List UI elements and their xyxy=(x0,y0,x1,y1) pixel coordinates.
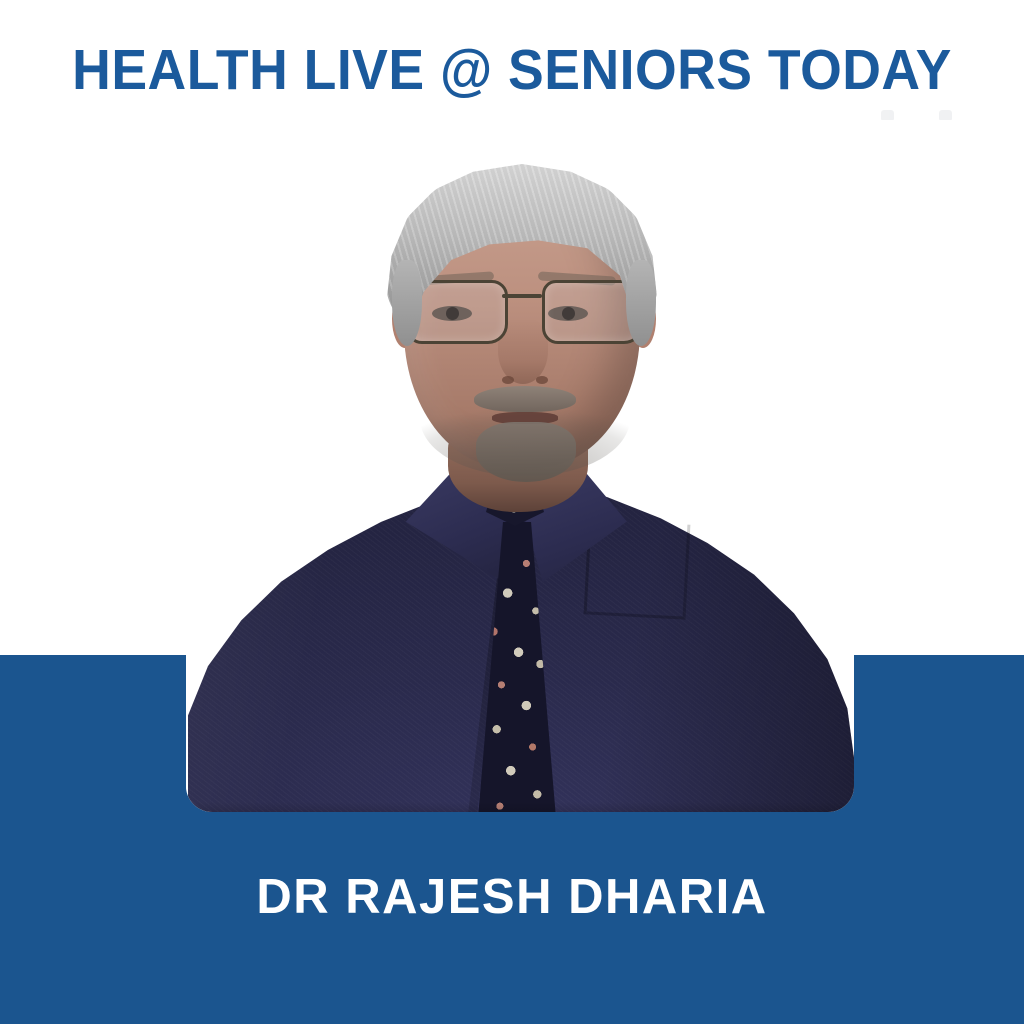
artifact-mark-2 xyxy=(939,110,952,120)
artifact-mark-1 xyxy=(881,110,894,120)
sideburn-left xyxy=(392,260,422,346)
moustache xyxy=(474,386,576,412)
goatee xyxy=(476,422,576,482)
nostril-right xyxy=(536,376,548,384)
header-band: HEALTH LIVE @ SENIORS TODAY xyxy=(0,0,1024,140)
eyeglasses xyxy=(400,280,644,346)
sideburn-right xyxy=(626,260,656,346)
page-title: HEALTH LIVE @ SENIORS TODAY xyxy=(31,40,994,100)
header-artifact-marks xyxy=(860,107,990,123)
speaker-name: DR RAJESH DHARIA xyxy=(0,869,1024,925)
portrait-illustration xyxy=(186,140,854,812)
speaker-photo xyxy=(186,140,854,812)
nostril-left xyxy=(502,376,514,384)
poster-canvas: HEALTH LIVE @ SENIORS TODAY xyxy=(0,0,1024,1024)
photo-bottom-fade xyxy=(186,802,854,812)
eyeglass-bridge xyxy=(502,294,542,298)
